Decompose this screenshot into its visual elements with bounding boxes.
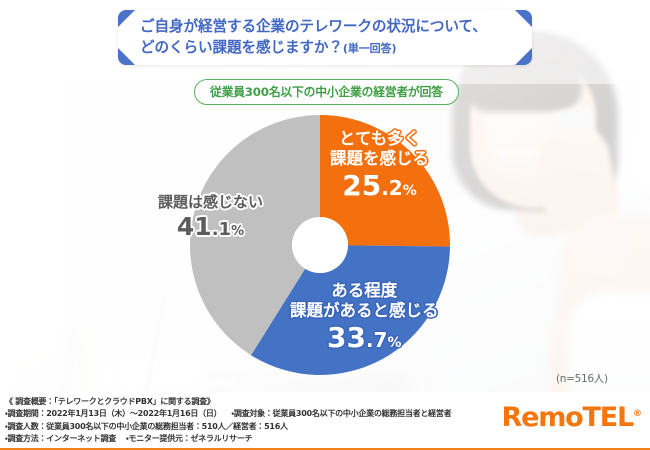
survey-overview: 《 調査概要：「テレワークとクラウドPBX」に関する調査》 ・調査期間：2022… — [5, 396, 451, 446]
infographic-canvas: ご自身が経営する企業のテレワークの状況について、 どのくらい課題を感じますか？(… — [0, 0, 650, 450]
brand-logo-text: RemoTEL — [502, 402, 633, 433]
corner-accent-bottom-right-icon — [515, 48, 532, 65]
label-no-issues: 課題は感じない 41.1% — [158, 193, 263, 239]
value-very-many-issues: 25.2% — [330, 172, 429, 200]
survey-method-row: ・調査方法：インターネット調査・モニター提供元：ゼネラルリサーチ — [5, 433, 451, 445]
survey-method: ・調査方法：インターネット調査 — [5, 434, 116, 443]
corner-accent-top-right-icon — [515, 10, 532, 27]
page-title-line-1: ご自身が経営する企業のテレワークの状況について、 — [140, 17, 512, 38]
survey-monitor-provider: ・モニター提供元：ゼネラルリサーチ — [126, 433, 252, 445]
title-card: ご自身が経営する企業のテレワークの状況について、 どのくらい課題を感じますか？(… — [118, 10, 532, 65]
page-title-line-2: どのくらい課題を感じますか？(単一回答) — [140, 38, 512, 59]
survey-respondents: ・調査人数：従業員300名以下の中小企業の総務担当者：510人／経営者：516人 — [5, 421, 451, 433]
survey-overview-heading: 《 調査概要：「テレワークとクラウドPBX」に関する調査》 — [5, 396, 451, 408]
registered-mark-icon: ® — [633, 409, 642, 419]
label-very-many-issues: とても多く 課題を感じる 25.2% — [330, 129, 429, 200]
value-some-issues: 33.7% — [290, 324, 439, 352]
value-no-issues: 41.1% — [158, 214, 263, 239]
donut-center-hole — [292, 217, 348, 273]
label-some-issues-line1: ある程度 — [290, 281, 439, 301]
page-title: ご自身が経営する企業のテレワークの状況について、 どのくらい課題を感じますか？(… — [140, 17, 512, 58]
corner-accent-bottom-left-icon — [118, 48, 135, 65]
respondent-scope-badge: 従業員300名以下の中小企業の経営者が回答 — [194, 79, 459, 105]
sample-size-note: (n=516人) — [556, 371, 608, 386]
label-very-many-issues-line1: とても多く — [330, 129, 429, 149]
label-some-issues-line2: 課題があると感じる — [290, 301, 439, 321]
label-some-issues: ある程度 課題があると感じる 33.7% — [290, 281, 439, 352]
page-title-answer-type: (単一回答) — [343, 42, 396, 55]
page-title-question: どのくらい課題を感じますか？ — [140, 39, 343, 56]
corner-accent-top-left-icon — [118, 10, 135, 27]
footer-bar: 《 調査概要：「テレワークとクラウドPBX」に関する調査》 ・調査期間：2022… — [0, 392, 650, 450]
survey-period-row: ・調査期間：2022年1月13日（木）〜2022年1月16日（日）・調査対象：従… — [5, 408, 451, 420]
label-no-issues-line1: 課題は感じない — [158, 193, 263, 211]
label-very-many-issues-line2: 課題を感じる — [330, 149, 429, 169]
survey-period: ・調査期間：2022年1月13日（木）〜2022年1月16日（日） — [5, 409, 221, 418]
brand-logo[interactable]: RemoTEL® — [502, 402, 642, 433]
survey-target: ・調査対象：従業員300名以下の中小企業の総務担当者と経営者 — [231, 408, 451, 420]
